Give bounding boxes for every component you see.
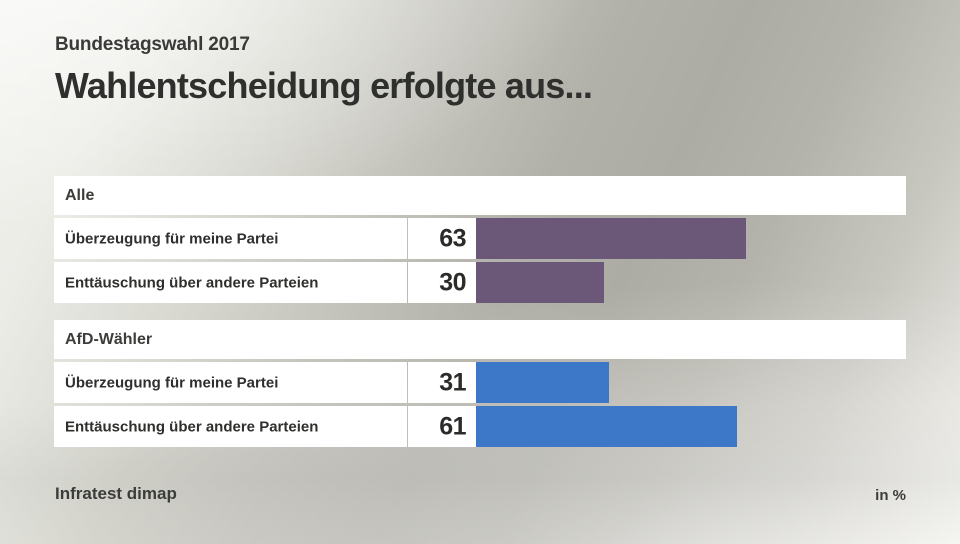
bar-row: Enttäuschung über andere Parteien61 xyxy=(54,406,906,447)
bar-row: Überzeugung für meine Partei63 xyxy=(54,218,906,259)
unit-label: in % xyxy=(875,487,906,504)
group-header: Alle xyxy=(54,176,906,215)
bar-row: Enttäuschung über andere Parteien30 xyxy=(54,262,906,303)
chart-canvas: Bundestagswahl 2017 Wahlentscheidung erf… xyxy=(0,0,960,544)
bar-value-cell: 30 xyxy=(408,262,476,303)
source-label: Infratest dimap xyxy=(55,484,177,504)
bar-track xyxy=(476,406,737,447)
bar-chart: AlleÜberzeugung für meine Partei63Enttäu… xyxy=(54,176,906,450)
group-header-label: Alle xyxy=(65,187,94,205)
bar-track xyxy=(476,262,604,303)
group-header: AfD-Wähler xyxy=(54,320,906,359)
bar-category-label: Überzeugung für meine Partei xyxy=(54,218,407,259)
group-spacer xyxy=(54,306,906,320)
bar-value-text: 30 xyxy=(439,268,466,297)
bar-value-cell: 31 xyxy=(408,362,476,403)
bar-category-label: Enttäuschung über andere Parteien xyxy=(54,262,407,303)
bar-category-text: Enttäuschung über andere Parteien xyxy=(65,274,318,291)
bar xyxy=(476,262,604,303)
bar xyxy=(476,362,609,403)
bar-value-cell: 63 xyxy=(408,218,476,259)
bar-value-text: 31 xyxy=(439,368,466,397)
bar-category-text: Enttäuschung über andere Parteien xyxy=(65,418,318,435)
bar-category-label: Enttäuschung über andere Parteien xyxy=(54,406,407,447)
bar-value-text: 63 xyxy=(439,224,466,253)
bar-track xyxy=(476,218,746,259)
bar-track xyxy=(476,362,609,403)
bar xyxy=(476,218,746,259)
bar-row: Überzeugung für meine Partei31 xyxy=(54,362,906,403)
bar xyxy=(476,406,737,447)
bar-category-text: Überzeugung für meine Partei xyxy=(65,230,278,247)
bar-category-label: Überzeugung für meine Partei xyxy=(54,362,407,403)
bar-value-text: 61 xyxy=(439,412,466,441)
bar-category-text: Überzeugung für meine Partei xyxy=(65,374,278,391)
chart-title: Wahlentscheidung erfolgte aus... xyxy=(55,65,592,107)
group-header-label: AfD-Wähler xyxy=(65,331,152,349)
bar-value-cell: 61 xyxy=(408,406,476,447)
chart-kicker: Bundestagswahl 2017 xyxy=(55,34,250,56)
